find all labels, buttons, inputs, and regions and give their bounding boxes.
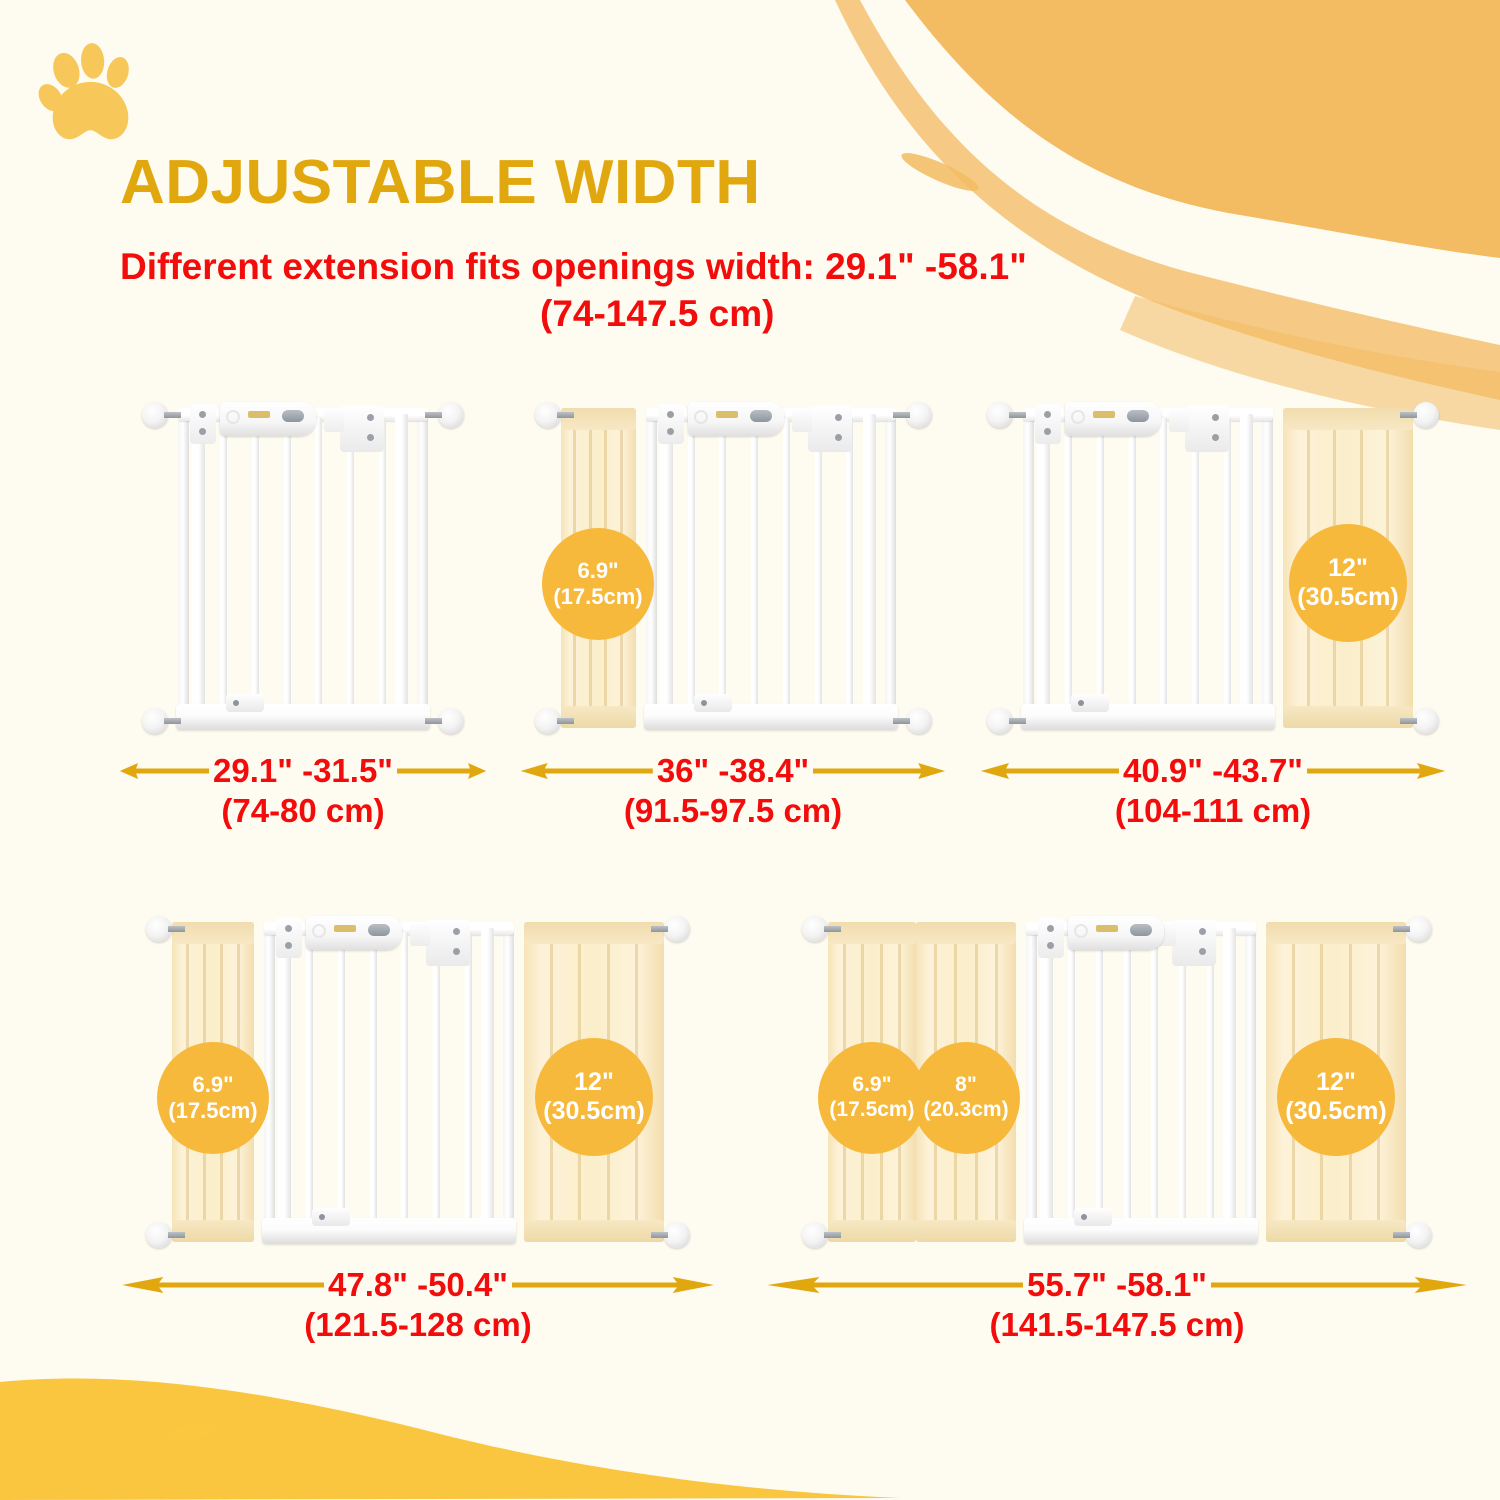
dimension-cm: (121.5-128 cm): [304, 1306, 531, 1344]
latch-release-button[interactable]: [1130, 924, 1152, 936]
thumbwheel-stem: [425, 412, 442, 418]
gate-bar-group: [688, 418, 854, 706]
screw-icon: [1047, 925, 1054, 932]
gate-inner-upright-left: [1040, 928, 1053, 1222]
gate-left-post: [1026, 926, 1037, 1226]
gate-inner-upright-left: [1037, 414, 1050, 708]
gate-bottom-rail: [644, 704, 898, 730]
gate-bar: [1065, 418, 1072, 706]
gate-bar: [1096, 932, 1103, 1220]
latch-ring-icon: [1071, 410, 1085, 424]
lock-pin-icon: [319, 1214, 325, 1220]
gate-inner-upright-right: [863, 414, 876, 708]
infographic-canvas: ADJUSTABLE WIDTH Different extension fit…: [0, 0, 1500, 1500]
product-row-1: 29.1" -31.5"(74-80 cm)6.9"(17.5cm)36" -3…: [0, 398, 1500, 830]
thumbwheel-stem: [1393, 1232, 1410, 1238]
gate-bar: [306, 932, 313, 1220]
thumbwheel-stem: [1400, 718, 1417, 724]
gate-bar: [284, 418, 291, 706]
mounting-thumbwheel[interactable]: [802, 1220, 832, 1250]
badge-inches: 12": [574, 1068, 614, 1098]
panel-top-cap: [828, 922, 916, 944]
screw-icon: [1212, 414, 1219, 421]
panel-top-cap: [524, 922, 664, 944]
gate-bar: [1097, 418, 1104, 706]
screw-icon: [285, 925, 292, 932]
dimension-caption: 40.9" -43.7"(104-111 cm): [978, 752, 1448, 830]
pet-gate-unit: [168, 398, 438, 738]
page-title: ADJUSTABLE WIDTH: [120, 150, 1380, 217]
gate-bar-group: [1065, 418, 1231, 706]
gate-latch-handle[interactable]: [1065, 402, 1161, 436]
brand-logo: [248, 411, 270, 418]
measurement-badge: 12"(30.5cm): [1289, 524, 1407, 642]
gate-right-post: [1262, 412, 1273, 712]
thumbwheel-stem: [557, 718, 574, 724]
screw-icon: [453, 948, 460, 955]
panel-top-cap: [1283, 408, 1413, 430]
gate-bar: [465, 932, 472, 1220]
gate-inner-upright-left: [192, 414, 205, 708]
thumbwheel-stem: [1009, 412, 1026, 418]
arrow-right-icon: [1211, 1274, 1472, 1296]
gate-hinge-block: [1172, 920, 1216, 966]
badge-cm: (17.5cm): [168, 1098, 257, 1124]
hinge-tab: [792, 410, 812, 432]
dimension-caption: 29.1" -31.5"(74-80 cm): [118, 752, 488, 830]
dimension-arrow-row: 47.8" -50.4": [118, 1266, 718, 1304]
arrow-right-icon: [1307, 760, 1448, 782]
badge-cm: (30.5cm): [1297, 583, 1398, 613]
brand-logo: [1093, 411, 1115, 418]
product-configuration: 6.9"(17.5cm)12"(30.5cm)47.8" -50.4"(121.…: [118, 912, 718, 1344]
arrow-right-icon: [512, 1274, 718, 1296]
extension-panel: 12"(30.5cm): [1266, 912, 1406, 1252]
hinge-tab: [324, 410, 344, 432]
badge-inches: 12": [1328, 554, 1368, 584]
gate-bottom-rail: [1021, 704, 1275, 730]
gate-inner-upright-left: [660, 414, 673, 708]
badge-cm: (30.5cm): [543, 1097, 644, 1127]
latch-release-button[interactable]: [282, 410, 304, 422]
gate-mount-bracket: [1035, 404, 1061, 444]
extension-panel: 6.9"(17.5cm): [172, 912, 254, 1252]
gate-bottom-lock[interactable]: [1071, 694, 1109, 712]
gate-right-post: [1245, 926, 1256, 1226]
gate-bar: [1151, 932, 1158, 1220]
mounting-thumbwheel[interactable]: [660, 1220, 690, 1250]
panel-top-cap: [1266, 922, 1406, 944]
dimension-cm: (104-111 cm): [1115, 792, 1311, 830]
gate-left-post: [264, 926, 275, 1226]
mounting-thumbwheel[interactable]: [1402, 914, 1432, 944]
measurement-badge: 8"(20.3cm): [912, 1042, 1020, 1154]
gate-bar: [1068, 932, 1075, 1220]
gate-assembly: [168, 398, 438, 738]
dimension-inches: 47.8" -50.4": [328, 1266, 508, 1304]
mounting-thumbwheel[interactable]: [1402, 1220, 1432, 1250]
header-block: ADJUSTABLE WIDTH Different extension fit…: [120, 150, 1380, 338]
mounting-thumbwheel[interactable]: [146, 1220, 176, 1250]
screw-icon: [1044, 428, 1051, 435]
dimension-inches: 29.1" -31.5": [213, 752, 393, 790]
gate-bar: [347, 418, 354, 706]
thumbwheel-stem: [168, 1232, 185, 1238]
screw-icon: [1199, 948, 1206, 955]
leaf-accent-bottom: [165, 1419, 219, 1445]
gate-bottom-lock[interactable]: [312, 1208, 350, 1226]
gate-bar: [1192, 418, 1199, 706]
mounting-thumbwheel[interactable]: [535, 400, 565, 430]
measurement-badge: 12"(30.5cm): [1277, 1038, 1395, 1156]
arrow-left-icon: [118, 1274, 324, 1296]
gate-inner-upright-right: [1223, 928, 1236, 1222]
mounting-thumbwheel[interactable]: [434, 400, 464, 430]
latch-release-button[interactable]: [1127, 410, 1149, 422]
thumbwheel-stem: [893, 718, 910, 724]
gate-mount-bracket: [190, 404, 216, 444]
panel-bottom-cap: [828, 1220, 916, 1242]
gate-bottom-rail: [176, 704, 430, 730]
measurement-badge: 6.9"(17.5cm): [818, 1042, 926, 1154]
screw-icon: [453, 928, 460, 935]
thumbwheel-stem: [164, 718, 181, 724]
screw-icon: [1199, 928, 1206, 935]
subtitle-line-1: Different extension fits openings width:…: [120, 243, 1380, 290]
gate-mount-bracket: [276, 918, 302, 958]
panel-bottom-cap: [916, 1220, 1016, 1242]
gate-right-post: [885, 412, 896, 712]
gate-hinge-block: [426, 920, 470, 966]
mounting-thumbwheel[interactable]: [902, 706, 932, 736]
screw-icon: [1044, 411, 1051, 418]
wave-bottom-left: [0, 1378, 900, 1500]
latch-release-button[interactable]: [750, 410, 772, 422]
panel-bottom-cap: [1283, 706, 1413, 728]
latch-ring-icon: [226, 410, 240, 424]
gate-assembly: 6.9"(17.5cm)12"(30.5cm): [172, 912, 664, 1252]
gate-right-post: [417, 412, 428, 712]
gate-left-post: [1023, 412, 1034, 712]
gate-bottom-lock[interactable]: [1074, 1208, 1112, 1226]
paw-print-icon: [38, 42, 143, 147]
measurement-badge: 6.9"(17.5cm): [542, 528, 654, 640]
screw-icon: [667, 411, 674, 418]
dimension-cm: (91.5-97.5 cm): [624, 792, 842, 830]
dimension-arrow-row: 36" -38.4": [518, 752, 948, 790]
dimension-caption: 47.8" -50.4"(121.5-128 cm): [118, 1266, 718, 1344]
product-configuration: 6.9"(17.5cm)8"(20.3cm)12"(30.5cm)55.7" -…: [762, 912, 1472, 1344]
mounting-thumbwheel[interactable]: [902, 400, 932, 430]
gate-assembly: 12"(30.5cm): [1013, 398, 1413, 738]
arrow-left-icon: [762, 1274, 1023, 1296]
extension-panel: 6.9"(17.5cm): [828, 912, 916, 1252]
gate-left-post: [178, 412, 189, 712]
panel-top-cap: [916, 922, 1016, 944]
lock-pin-icon: [1081, 1214, 1087, 1220]
pet-gate-unit: [1013, 398, 1283, 738]
screw-icon: [835, 414, 842, 421]
extension-panel: 12"(30.5cm): [1283, 398, 1413, 738]
gate-hinge-block: [1185, 406, 1229, 452]
product-configuration: 6.9"(17.5cm)36" -38.4"(91.5-97.5 cm): [518, 398, 948, 830]
badge-cm: (17.5cm): [829, 1098, 914, 1123]
screw-icon: [667, 428, 674, 435]
dimension-inches: 40.9" -43.7": [1123, 752, 1303, 790]
gate-mount-bracket: [1038, 918, 1064, 958]
gate-latch-handle[interactable]: [688, 402, 784, 436]
lock-pin-icon: [701, 700, 707, 706]
gate-bar: [370, 932, 377, 1220]
mounting-thumbwheel[interactable]: [1409, 400, 1439, 430]
dimension-arrow-row: 55.7" -58.1": [762, 1266, 1472, 1304]
gate-hinge-block: [808, 406, 852, 452]
dimension-inches: 36" -38.4": [657, 752, 809, 790]
panel-bottom-cap: [172, 1220, 254, 1242]
gate-bottom-lock[interactable]: [694, 694, 732, 712]
mounting-thumbwheel[interactable]: [146, 914, 176, 944]
mounting-thumbwheel[interactable]: [987, 706, 1017, 736]
gate-bar: [815, 418, 822, 706]
gate-bar: [719, 418, 726, 706]
arrow-left-icon: [518, 760, 653, 782]
badge-inches: 6.9": [577, 558, 618, 584]
arrow-right-icon: [813, 760, 948, 782]
gate-inner-upright-right: [395, 414, 408, 708]
thumbwheel-stem: [824, 926, 841, 932]
hinge-tab: [410, 924, 430, 946]
screw-icon: [1047, 942, 1054, 949]
dimension-cm: (74-80 cm): [221, 792, 384, 830]
gate-right-post: [503, 926, 514, 1226]
extension-panel: 8"(20.3cm): [916, 912, 1016, 1252]
page-subtitle: Different extension fits openings width:…: [120, 243, 1380, 338]
badge-cm: (20.3cm): [923, 1098, 1008, 1123]
badge-cm: (17.5cm): [553, 584, 642, 610]
thumbwheel-stem: [651, 1232, 668, 1238]
gate-bar: [1160, 418, 1167, 706]
dimension-arrow-row: 40.9" -43.7": [978, 752, 1448, 790]
arrow-left-icon: [118, 760, 209, 782]
gate-bar: [783, 418, 790, 706]
badge-inches: 6.9": [192, 1072, 233, 1098]
arrow-right-icon: [397, 760, 488, 782]
arrow-left-icon: [978, 760, 1119, 782]
thumbwheel-stem: [1393, 926, 1410, 932]
latch-release-button[interactable]: [368, 924, 390, 936]
badge-inches: 12": [1316, 1068, 1356, 1098]
thumbwheel-stem: [425, 718, 442, 724]
screw-icon: [285, 942, 292, 949]
panel-bottom-cap: [1266, 1220, 1406, 1242]
mounting-thumbwheel[interactable]: [142, 400, 172, 430]
pet-gate-unit: [636, 398, 906, 738]
panel-bottom-cap: [524, 1220, 664, 1242]
gate-bar: [688, 418, 695, 706]
badge-inches: 6.9": [852, 1073, 891, 1098]
mounting-thumbwheel[interactable]: [1409, 706, 1439, 736]
measurement-badge: 12"(30.5cm): [535, 1038, 653, 1156]
thumbwheel-stem: [557, 412, 574, 418]
gate-bar: [846, 418, 853, 706]
gate-bar: [751, 418, 758, 706]
gate-hinge-block: [340, 406, 384, 452]
gate-bar: [1224, 418, 1231, 706]
latch-ring-icon: [312, 924, 326, 938]
gate-bar: [338, 932, 345, 1220]
gate-bar: [401, 932, 408, 1220]
gate-bar: [1179, 932, 1186, 1220]
product-row-2: 6.9"(17.5cm)12"(30.5cm)47.8" -50.4"(121.…: [0, 912, 1500, 1344]
gate-bar-group: [306, 932, 472, 1220]
dimension-inches: 55.7" -58.1": [1027, 1266, 1207, 1304]
gate-assembly: 6.9"(17.5cm)8"(20.3cm)12"(30.5cm): [828, 912, 1406, 1252]
gate-inner-upright-right: [1240, 414, 1253, 708]
gate-assembly: 6.9"(17.5cm): [561, 398, 906, 738]
gate-bottom-lock[interactable]: [226, 694, 264, 712]
dimension-cm: (141.5-147.5 cm): [990, 1306, 1245, 1344]
screw-icon: [199, 428, 206, 435]
measurement-badge: 6.9"(17.5cm): [157, 1042, 269, 1154]
gate-bar: [252, 418, 259, 706]
product-configuration: 29.1" -31.5"(74-80 cm): [118, 398, 488, 830]
extension-panel: 6.9"(17.5cm): [561, 398, 636, 738]
dimension-caption: 55.7" -58.1"(141.5-147.5 cm): [762, 1266, 1472, 1344]
dimension-arrow-row: 29.1" -31.5": [118, 752, 488, 790]
subtitle-line-2: (74-147.5 cm): [120, 290, 1380, 337]
product-configuration: 12"(30.5cm)40.9" -43.7"(104-111 cm): [978, 398, 1448, 830]
thumbwheel-stem: [168, 926, 185, 932]
thumbwheel-stem: [893, 412, 910, 418]
mounting-thumbwheel[interactable]: [142, 706, 172, 736]
thumbwheel-stem: [1400, 412, 1417, 418]
gate-inner-upright-right: [481, 928, 494, 1222]
mounting-thumbwheel[interactable]: [660, 914, 690, 944]
gate-latch-handle[interactable]: [306, 916, 402, 950]
thumbwheel-stem: [164, 412, 181, 418]
pet-gate-unit: [1016, 912, 1266, 1252]
gate-bar-group: [220, 418, 386, 706]
mounting-thumbwheel[interactable]: [535, 706, 565, 736]
mounting-thumbwheel[interactable]: [987, 400, 1017, 430]
gate-bar: [1207, 932, 1214, 1220]
gate-bottom-rail: [1024, 1218, 1258, 1244]
latch-ring-icon: [1074, 924, 1088, 938]
latch-ring-icon: [694, 410, 708, 424]
gate-bar: [1129, 418, 1136, 706]
gate-inner-upright-left: [278, 928, 291, 1222]
dimension-caption: 36" -38.4"(91.5-97.5 cm): [518, 752, 948, 830]
screw-icon: [1212, 434, 1219, 441]
badge-inches: 8": [955, 1073, 977, 1098]
screw-icon: [367, 414, 374, 421]
lock-pin-icon: [1078, 700, 1084, 706]
gate-bar: [379, 418, 386, 706]
panel-bottom-cap: [561, 706, 636, 728]
gate-bar: [433, 932, 440, 1220]
screw-icon: [199, 411, 206, 418]
gate-bar-group: [1068, 932, 1214, 1220]
gate-bar: [220, 418, 227, 706]
thumbwheel-stem: [651, 926, 668, 932]
mounting-thumbwheel[interactable]: [434, 706, 464, 736]
brand-logo: [334, 925, 356, 932]
gate-mount-bracket: [658, 404, 684, 444]
thumbwheel-stem: [1009, 718, 1026, 724]
screw-icon: [367, 434, 374, 441]
hinge-tab: [1169, 410, 1189, 432]
gate-latch-handle[interactable]: [220, 402, 316, 436]
gate-bar: [315, 418, 322, 706]
thumbwheel-stem: [824, 1232, 841, 1238]
gate-bottom-rail: [262, 1218, 516, 1244]
gate-bar: [1124, 932, 1131, 1220]
gate-latch-handle[interactable]: [1068, 916, 1164, 950]
brand-logo: [716, 411, 738, 418]
badge-cm: (30.5cm): [1285, 1097, 1386, 1127]
brand-logo: [1096, 925, 1118, 932]
pet-gate-unit: [254, 912, 524, 1252]
lock-pin-icon: [233, 700, 239, 706]
mounting-thumbwheel[interactable]: [802, 914, 832, 944]
extension-panel: 12"(30.5cm): [524, 912, 664, 1252]
screw-icon: [835, 434, 842, 441]
